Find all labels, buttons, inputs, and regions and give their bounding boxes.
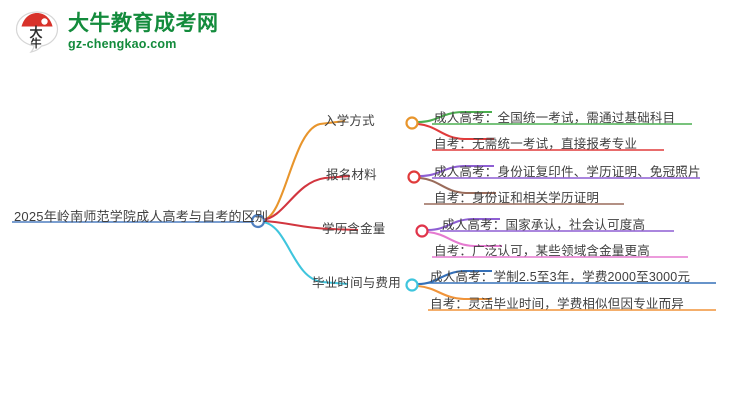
branch-node-3: [417, 226, 428, 237]
branch-label-4[interactable]: 毕业时间与费用: [312, 272, 401, 291]
branch-node-4: [407, 280, 418, 291]
branch-label-2[interactable]: 报名材料: [326, 164, 377, 183]
branch-node-1: [407, 118, 418, 129]
leaf-label-1-2[interactable]: 自考：无需统一考试，直接报考专业: [434, 133, 637, 152]
leaf-label-4-1[interactable]: 成人高考：学制2.5至3年，学费2000至3000元: [430, 266, 690, 285]
leaf-label-3-1[interactable]: 成人高考：国家承认，社会认可度高: [442, 214, 645, 233]
root-label[interactable]: 2025年岭南师范学院成人高考与自考的区别: [14, 206, 268, 225]
leaf-label-1-1[interactable]: 成人高考：全国统一考试，需通过基础科目: [434, 107, 675, 126]
leaf-label-2-1[interactable]: 成人高考：身份证复印件、学历证明、免冠照片: [434, 161, 701, 180]
mindmap-canvas: [0, 0, 750, 410]
leaf-label-4-2[interactable]: 自考：灵活毕业时间，学费相似但因专业而异: [430, 293, 684, 312]
branch-label-3[interactable]: 学历含金量: [322, 218, 386, 237]
leaf-label-3-2[interactable]: 自考：广泛认可，某些领域含金量更高: [434, 240, 650, 259]
branch-label-1[interactable]: 入学方式: [324, 110, 375, 129]
leaf-label-2-2[interactable]: 自考：身份证和相关学历证明: [434, 187, 599, 206]
branch-node-2: [409, 172, 420, 183]
